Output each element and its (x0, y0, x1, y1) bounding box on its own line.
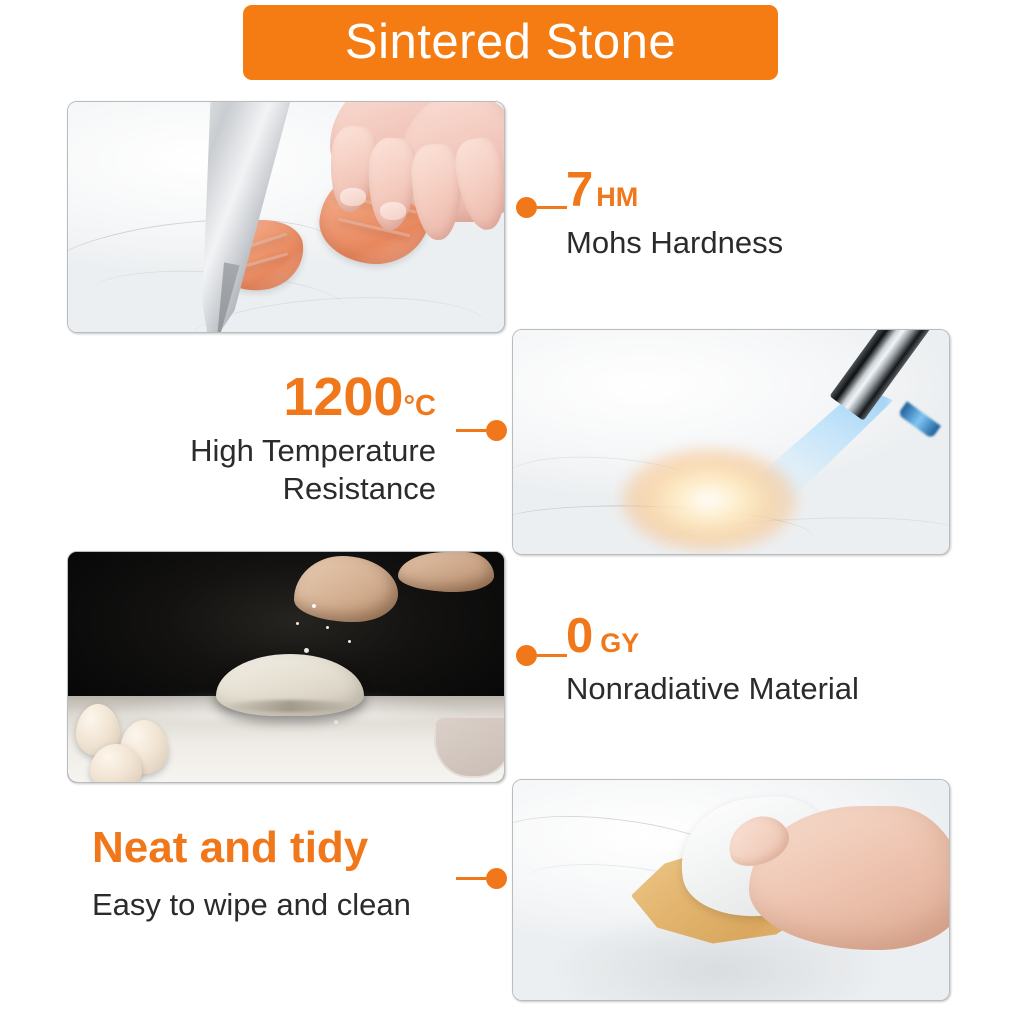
feature-image-knife-cutting-salmon (67, 101, 505, 333)
page-title: Sintered Stone (345, 18, 676, 67)
photo-hand-wiping-spill (513, 780, 949, 1000)
photo-knife-cutting-salmon (68, 102, 504, 332)
temperature-value-row: 1200°C (136, 370, 436, 424)
connector-line-icon (456, 429, 486, 432)
mohs-value: 7 (566, 163, 593, 217)
photo-hands-kneading-dough (68, 552, 504, 782)
connector-high-temperature (456, 420, 507, 441)
temperature-unit: °C (403, 390, 436, 422)
fingernail (340, 188, 366, 206)
title-banner: Sintered Stone (243, 5, 778, 80)
feature-image-blowtorch-flame (512, 329, 950, 555)
connector-neat-and-tidy (456, 868, 507, 889)
feature-label-neat-and-tidy: Neat and tidy Easy to wipe and clean (92, 826, 436, 924)
feature-image-kneading-dough (67, 551, 505, 783)
heat-glow-spot (621, 448, 797, 552)
connector-dot-icon (516, 645, 537, 666)
neat-and-tidy-headline: Neat and tidy (92, 826, 436, 870)
connector-line-icon (537, 206, 567, 209)
connector-dot-icon (486, 420, 507, 441)
fingernail (380, 202, 406, 220)
connector-mohs-hardness (516, 197, 567, 218)
flour-speck (304, 648, 309, 653)
temperature-value: 1200 (283, 367, 403, 427)
connector-nonradiative (516, 645, 567, 666)
flour-speck (334, 720, 338, 724)
mohs-unit: HM (596, 182, 638, 212)
radiation-unit: GY (600, 628, 639, 658)
temperature-description-line1: High Temperature (136, 432, 436, 470)
connector-line-icon (537, 654, 567, 657)
radiation-description: Nonradiative Material (566, 670, 859, 708)
radiation-value-row: 0GY (566, 612, 859, 661)
mohs-description: Mohs Hardness (566, 224, 783, 262)
radiation-value: 0 (566, 609, 593, 663)
connector-line-icon (456, 877, 486, 880)
feature-image-wiping-spill (512, 779, 950, 1001)
flour-speck (312, 604, 316, 608)
connector-dot-icon (516, 197, 537, 218)
hand-secondary (398, 552, 494, 592)
feature-label-mohs-hardness: 7HM Mohs Hardness (566, 166, 783, 262)
flour-speck (348, 640, 351, 643)
neat-and-tidy-description: Easy to wipe and clean (92, 886, 436, 924)
photo-blowtorch-on-marble (513, 330, 949, 554)
connector-dot-icon (486, 868, 507, 889)
dough-fold (228, 700, 352, 712)
feature-label-nonradiative: 0GY Nonradiative Material (566, 612, 859, 708)
feature-label-high-temperature: 1200°C High Temperature Resistance (136, 370, 436, 508)
flour-speck (326, 626, 329, 629)
mohs-value-row: 7HM (566, 166, 783, 215)
temperature-description-line2: Resistance (136, 470, 436, 508)
flour-speck (296, 622, 299, 625)
